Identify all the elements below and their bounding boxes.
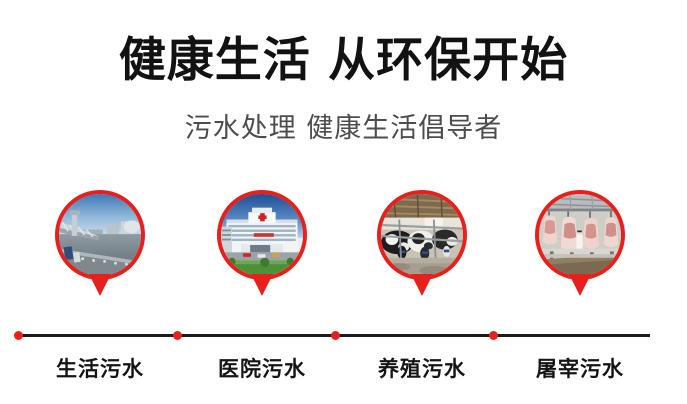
category-label-slaughterhouse: 屠宰污水 bbox=[500, 355, 660, 383]
axis-dot-slaughterhouse bbox=[489, 331, 498, 340]
pin-tip-icon bbox=[411, 274, 433, 296]
pin-tip-icon bbox=[89, 274, 111, 296]
pin-tip-icon bbox=[569, 274, 591, 296]
eco-water-treatment-banner: 健康生活 从环保开始 污水处理 健康生活倡导者 bbox=[0, 0, 687, 404]
page-subtitle: 污水处理 健康生活倡导者 bbox=[0, 112, 687, 146]
pin-circle-frame bbox=[55, 190, 145, 280]
category-label-livestock: 养殖污水 bbox=[342, 355, 502, 383]
category-pin-livestock[interactable] bbox=[377, 190, 467, 302]
pin-circle-frame bbox=[217, 190, 307, 280]
axis-dot-livestock bbox=[331, 331, 340, 340]
slaughterhouse-carcass-line-photo bbox=[539, 194, 621, 276]
axis-dot-domestic bbox=[14, 331, 23, 340]
domestic-sewage-treatment-plant-photo bbox=[59, 194, 141, 276]
category-pin-domestic[interactable] bbox=[55, 190, 145, 302]
pin-tip-icon bbox=[251, 274, 273, 296]
category-pin-row bbox=[0, 190, 687, 315]
category-label-row: 生活污水 医院污水 养殖污水 屠宰污水 bbox=[0, 355, 687, 389]
category-pin-slaughterhouse[interactable] bbox=[535, 190, 625, 302]
category-label-domestic: 生活污水 bbox=[20, 355, 180, 383]
pin-circle-frame bbox=[377, 190, 467, 280]
page-title: 健康生活 从环保开始 bbox=[0, 32, 687, 90]
category-label-hospital: 医院污水 bbox=[182, 355, 342, 383]
hospital-building-photo bbox=[221, 194, 303, 276]
dairy-cattle-barn-photo bbox=[381, 194, 463, 276]
timeline-axis bbox=[16, 334, 650, 337]
axis-dot-hospital bbox=[173, 331, 182, 340]
category-pin-hospital[interactable] bbox=[217, 190, 307, 302]
pin-circle-frame bbox=[535, 190, 625, 280]
